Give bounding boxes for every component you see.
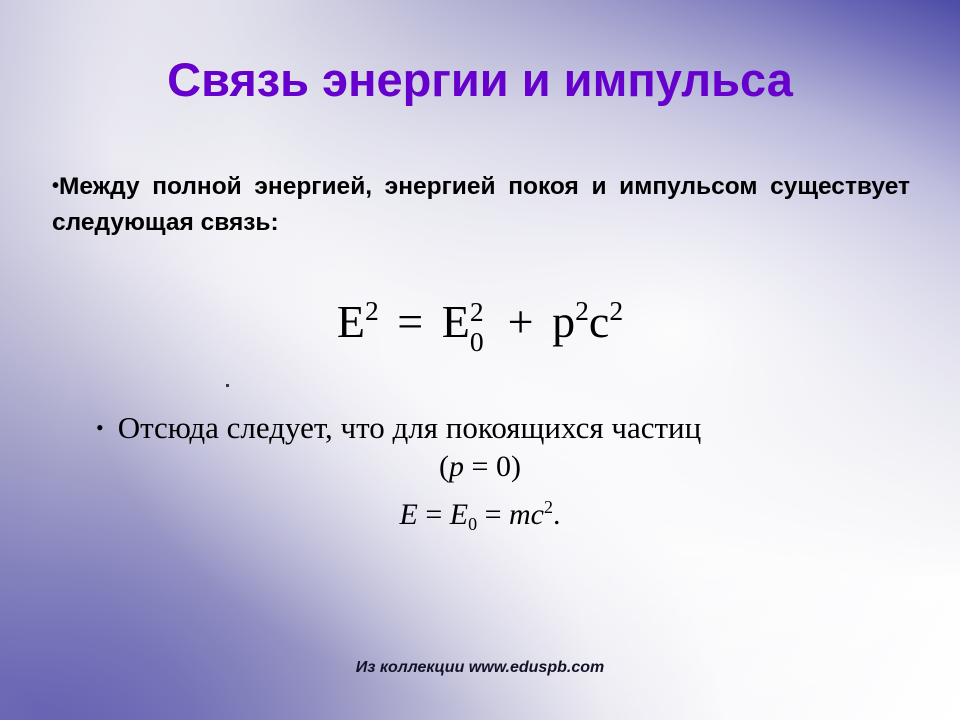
formula-main-rest-base: E [442, 296, 470, 347]
presentation-slide: Связь энергии и импульса •Между полной э… [0, 0, 960, 720]
formula-condition-close-paren: ) [511, 450, 521, 483]
formula-result-mass-lightspeed-base: mc [509, 498, 544, 531]
formula-rest-condition: (p = 0) [0, 448, 960, 486]
slide-title: Связь энергии и импульса [0, 52, 960, 108]
bullet-text-one: Между полной энергией, энергией покоя и … [52, 173, 910, 236]
formula-rest-energy: E = E0 = mc2. [0, 488, 960, 543]
slide-footer-attribution: Из коллекции www.eduspb.com [0, 657, 960, 679]
formula-main-momentum-exponent: 2 [575, 295, 589, 326]
formula-main-equals: = [397, 296, 423, 347]
formula-result-period: . [553, 498, 561, 531]
formula-condition-equals: = [472, 450, 489, 483]
formula-condition-symbol: p [449, 450, 464, 483]
formula-main-lightspeed-exponent: 2 [609, 295, 623, 326]
bullet-text-two: Отсюда следует, что для покоящихся части… [118, 410, 702, 445]
formula-main-lhs-exponent: 2 [365, 295, 379, 326]
formula-result-equals-second: = [485, 498, 502, 531]
formula-main-lhs-base: E [337, 296, 365, 347]
formula-result-mass-lightspeed-exponent: 2 [544, 497, 553, 517]
bullet-paragraph-two: •Отсюда следует, что для покоящихся част… [96, 408, 886, 448]
bullet-marker-two: • [96, 415, 104, 440]
formula-result-rest-energy-base: E [450, 498, 468, 531]
formula-main-rest-scripts: 20 [470, 291, 489, 337]
bullet-paragraph-one: •Между полной энергией, энергией покоя и… [52, 168, 910, 241]
formula-result-energy: E [400, 498, 418, 531]
slide-content: Связь энергии и импульса •Между полной э… [0, 0, 960, 720]
formula-condition-value: 0 [496, 450, 511, 483]
bullet-marker-one: • [52, 175, 59, 197]
formula-result-equals-first: = [425, 498, 442, 531]
formula-main-lightspeed-base: c [589, 296, 609, 347]
formula-energy-momentum-relation: E2 = E20 + p2c2 [0, 282, 960, 351]
formula-main-rest-subscript: 0 [470, 313, 484, 371]
formula-result-rest-energy-subscript: 0 [468, 514, 477, 534]
formula-main-plus: + [508, 296, 534, 347]
formula-condition-open-paren: ( [439, 450, 449, 483]
formula-main-momentum-base: p [552, 296, 575, 347]
stray-dot-artifact [226, 384, 229, 387]
